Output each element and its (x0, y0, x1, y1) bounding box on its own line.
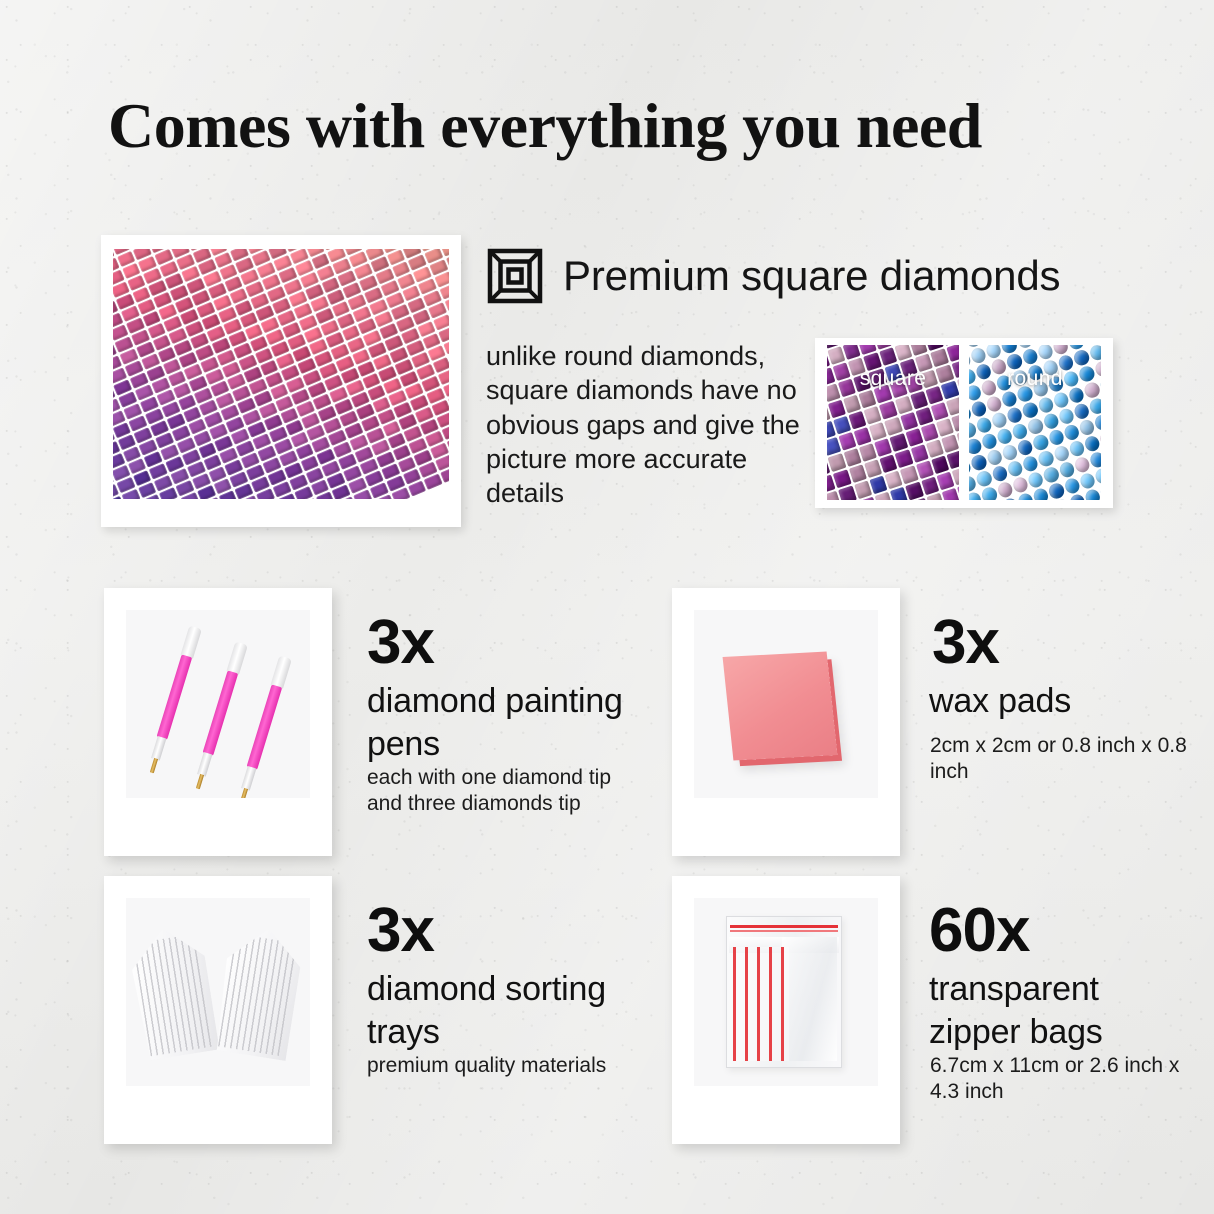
bags-sub: 6.7cm x 11cm or 2.6 inch x 4.3 inch (930, 1053, 1200, 1106)
trays-photo-inner (126, 898, 310, 1086)
trays-name: diamond sorting trays (367, 968, 647, 1053)
tray-right (212, 923, 305, 1061)
diamond-painting-pens-photo (104, 588, 332, 856)
round-label: round (969, 367, 1101, 391)
bags-count: 60x (929, 900, 1029, 962)
premium-square-diamonds-heading: Premium square diamonds (487, 248, 1060, 304)
wax-photo-inner (694, 610, 878, 798)
square-diamond-icon (487, 248, 543, 304)
infographic-page: Comes with everything you need Premium s… (0, 0, 1214, 1214)
pens-name: diamond painting pens (367, 680, 647, 765)
pens-count: 3x (367, 612, 434, 674)
diamond-painting-closeup-photo (113, 249, 449, 499)
pen-1 (146, 626, 201, 775)
trays-count: 3x (367, 900, 434, 962)
premium-heading-text: Premium square diamonds (563, 252, 1060, 300)
tray-left (126, 923, 219, 1061)
round-diamonds-photo: round (969, 345, 1101, 500)
sorting-trays-photo (104, 876, 332, 1144)
pen-3 (236, 656, 291, 798)
wax-sub: 2cm x 2cm or 0.8 inch x 0.8 inch (930, 733, 1190, 786)
page-title: Comes with everything you need (108, 94, 1118, 158)
zipper-bags-photo (672, 876, 900, 1144)
pens-sub: each with one diamond tip and three diam… (367, 765, 647, 818)
bags-name: transparent zipper bags (929, 968, 1199, 1053)
wax-pad-object (723, 652, 838, 761)
trays-sub: premium quality materials (367, 1053, 647, 1079)
pen-2 (192, 642, 247, 791)
wax-pad-photo (672, 588, 900, 856)
bags-photo-inner (694, 898, 878, 1086)
wax-name: wax pads (929, 680, 1189, 723)
pens-photo-inner (126, 610, 310, 798)
wax-count: 3x (932, 612, 999, 674)
zipper-bag-object (726, 916, 842, 1068)
square-label: square (827, 367, 959, 391)
premium-description: unlike round diamonds, square diamonds h… (486, 339, 806, 510)
square-diamonds-photo: square (827, 345, 959, 500)
